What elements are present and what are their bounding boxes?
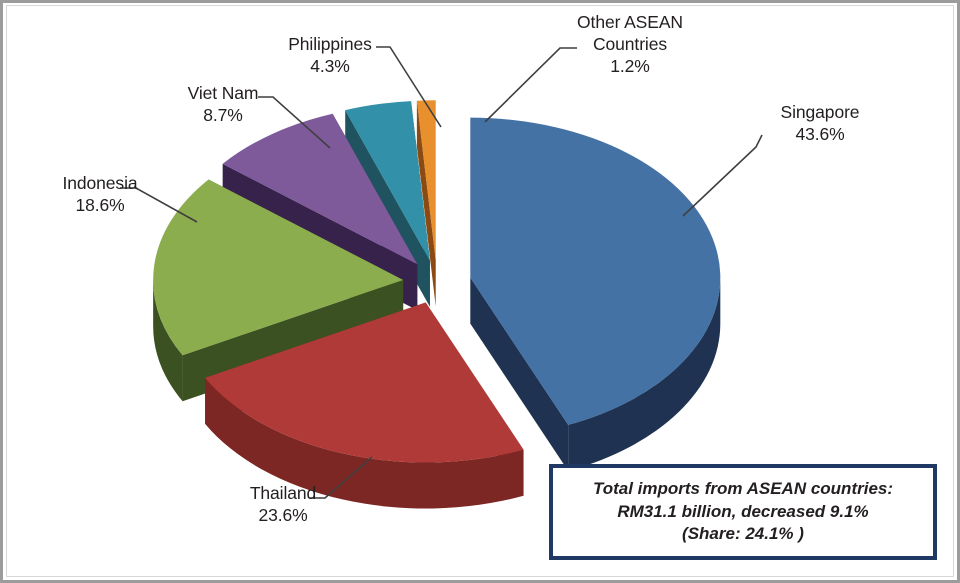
summary-line-2: RM31.1 billion, decreased 9.1% — [617, 501, 868, 524]
pie-label-philippines-percent: 4.3% — [255, 55, 405, 77]
leader-line-singapore — [683, 135, 762, 216]
pie-label-philippines: Philippines 4.3% — [255, 33, 405, 77]
pie-label-thailand-name: Thailand — [198, 482, 368, 504]
pie-label-other-asean-name: Other ASEAN — [545, 11, 715, 33]
pie-label-philippines-name: Philippines — [255, 33, 405, 55]
pie-label-vietnam-name: Viet Nam — [148, 82, 298, 104]
pie-label-vietnam-percent: 8.7% — [148, 104, 298, 126]
pie-label-other-asean: Other ASEAN Countries 1.2% — [545, 11, 715, 77]
pie-label-thailand-percent: 23.6% — [198, 504, 368, 526]
pie-label-singapore-percent: 43.6% — [740, 123, 900, 145]
pie-label-other-asean-percent: 1.2% — [545, 55, 715, 77]
pie-label-singapore-name: Singapore — [740, 101, 900, 123]
pie-label-indonesia-percent: 18.6% — [20, 194, 180, 216]
pie-label-indonesia-name: Indonesia — [20, 172, 180, 194]
pie-label-indonesia: Indonesia 18.6% — [20, 172, 180, 216]
summary-line-1: Total imports from ASEAN countries: — [593, 478, 893, 501]
summary-textbox: Total imports from ASEAN countries: RM31… — [549, 464, 937, 560]
pie-label-vietnam: Viet Nam 8.7% — [148, 82, 298, 126]
pie-label-other-asean-name2: Countries — [545, 33, 715, 55]
chart-page: Singapore 43.6% Thailand 23.6% Indonesia… — [0, 0, 960, 583]
pie-label-thailand: Thailand 23.6% — [198, 482, 368, 526]
pie-label-singapore: Singapore 43.6% — [740, 101, 900, 145]
summary-line-3: (Share: 24.1% ) — [682, 523, 804, 546]
